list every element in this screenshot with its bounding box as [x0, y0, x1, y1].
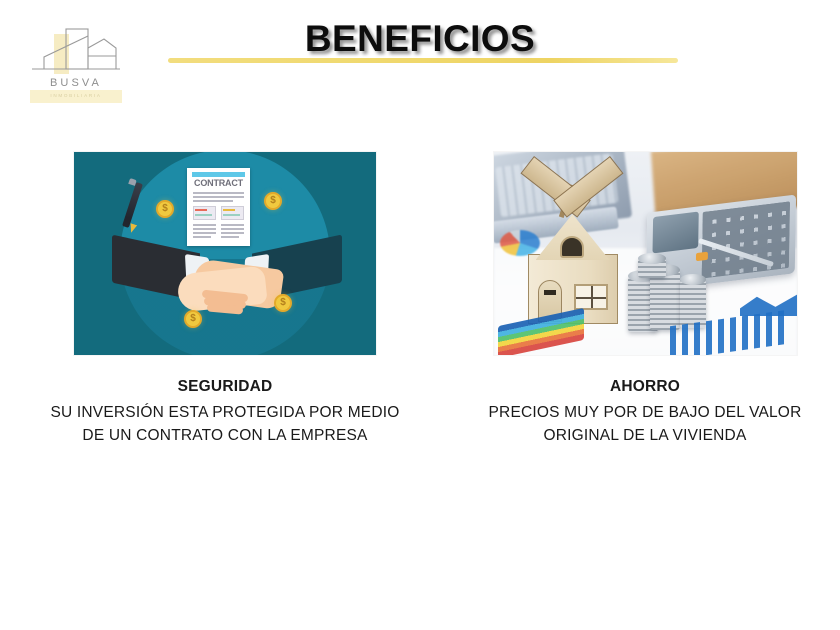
logo-tagline: INMOBILIARIA — [24, 93, 128, 98]
title-underline-rule — [168, 58, 678, 63]
slide-canvas: BUSVA INMOBILIARIA BENEFICIOS CONTRACT — [0, 0, 840, 630]
calculator-keys — [701, 201, 790, 278]
house-window — [574, 284, 608, 310]
caption-heading: SEGURIDAD — [40, 375, 410, 399]
wooden-house-model-icon — [516, 198, 628, 328]
calculator-key-highlight — [695, 252, 707, 262]
benefit-card-seguridad: CONTRACT — [40, 152, 410, 448]
coin-icon-top-right: $ — [264, 192, 282, 210]
calculator-screen — [652, 211, 698, 253]
caption-body: PRECIOS MUY POR DE BAJO DEL VALOR ORIGIN… — [460, 401, 830, 448]
coin-stack-middle — [650, 270, 680, 330]
page-title: BENEFICIOS — [0, 18, 840, 60]
coin-top-right — [680, 274, 706, 285]
caption-seguridad: SEGURIDAD SU INVERSIÓN ESTA PROTEGIDA PO… — [40, 375, 410, 448]
coin-icon-bottom-right: $ — [274, 294, 292, 312]
contract-header-band — [192, 172, 245, 177]
coin-icon-bottom-left: $ — [184, 310, 202, 328]
contract-label: CONTRACT — [187, 178, 250, 188]
coin-icon-top-left: $ — [156, 200, 174, 218]
caption-body: SU INVERSIÓN ESTA PROTEGIDA POR MEDIO DE… — [40, 401, 410, 448]
caption-heading: AHORRO — [460, 375, 830, 399]
handshake-contract-illustration: CONTRACT — [74, 152, 376, 355]
caption-ahorro: AHORRO PRECIOS MUY POR DE BAJO DEL VALOR… — [460, 375, 830, 448]
coin-top-back — [638, 253, 666, 264]
house-door-slot — [544, 290, 556, 295]
house-attic-window — [560, 236, 584, 258]
house-model-coins-calculator-photo — [494, 152, 797, 355]
benefit-card-ahorro: AHORRO PRECIOS MUY POR DE BAJO DEL VALOR… — [460, 152, 830, 448]
contract-document-icon: CONTRACT — [187, 168, 250, 246]
logo-brand-name: BUSVA — [24, 77, 128, 89]
